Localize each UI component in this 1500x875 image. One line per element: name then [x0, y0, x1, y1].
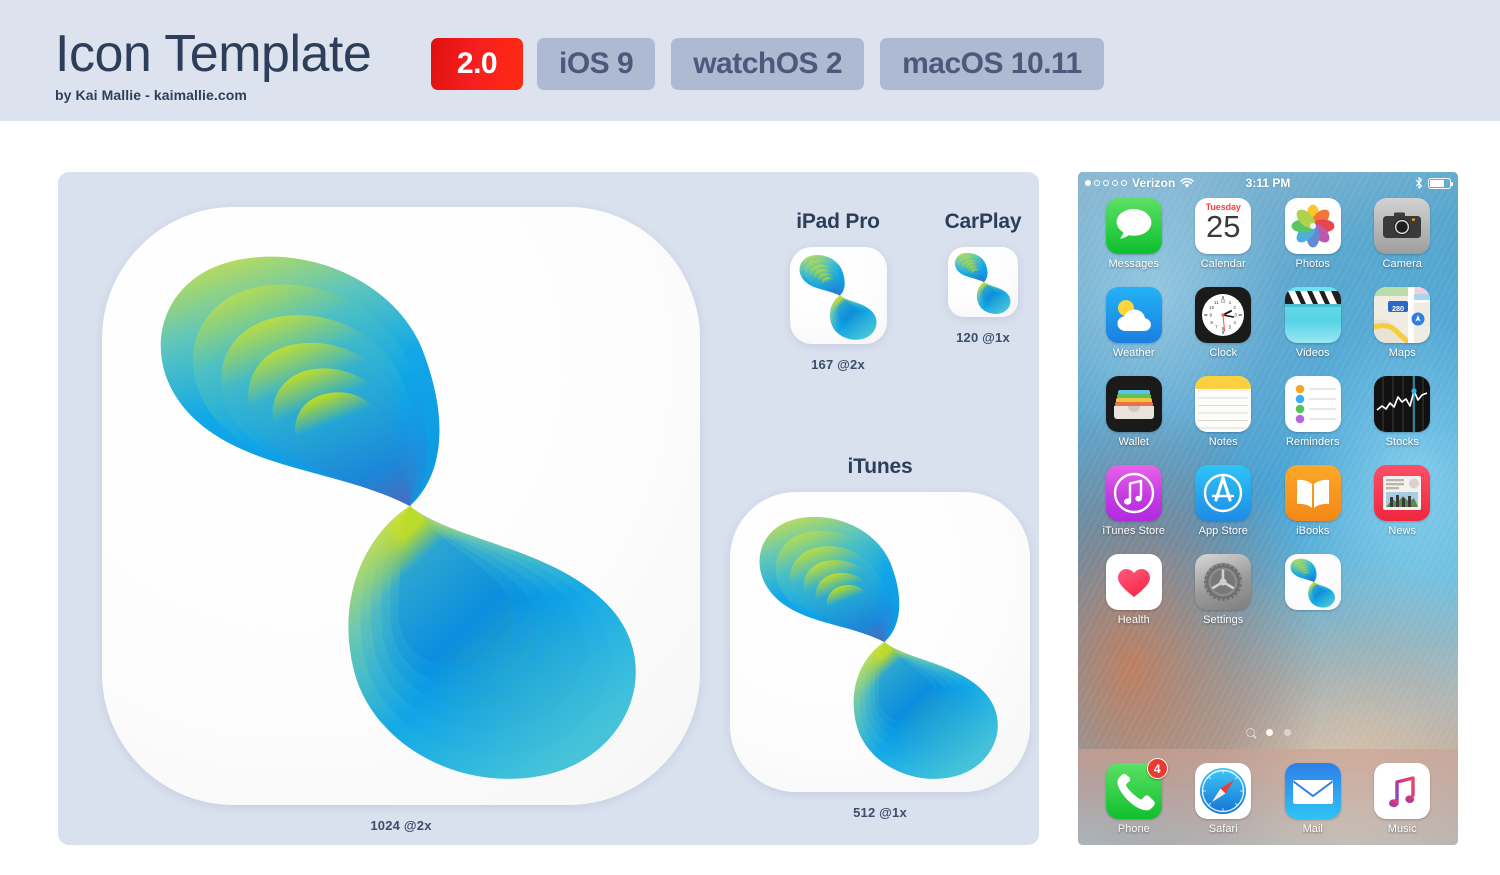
svg-text:3: 3 [1234, 313, 1237, 318]
app-notes[interactable]: Notes [1179, 376, 1269, 448]
stage: 1024 @2x iPad Pro 167 @2x CarPlay 120 @1… [0, 121, 1500, 875]
app-store-icon[interactable] [1195, 465, 1251, 521]
icon-ipad-group: iPad Pro 167 @2x [758, 210, 918, 372]
dock-phone[interactable]: 4 Phone [1106, 763, 1162, 835]
app-label: Weather [1113, 347, 1155, 359]
safari-icon[interactable] [1195, 763, 1251, 819]
svg-text:5: 5 [1229, 325, 1232, 330]
app-label: Photos [1295, 258, 1330, 270]
bluetooth-icon [1415, 177, 1423, 189]
icon-tile-1024[interactable] [102, 207, 700, 805]
icon-title-itunes: iTunes [720, 455, 1040, 479]
os-badge-watchos[interactable]: watchOS 2 [671, 38, 864, 90]
app-template[interactable] [1268, 554, 1358, 626]
dock-label: Mail [1303, 823, 1323, 835]
music-icon[interactable] [1374, 763, 1430, 819]
app-label: Notes [1209, 436, 1238, 448]
page-title: Icon Template [55, 24, 371, 84]
page-dot-2[interactable] [1284, 729, 1291, 736]
app-settings[interactable]: Settings [1179, 554, 1269, 626]
app-label: Settings [1203, 614, 1243, 626]
app-news[interactable]: News [1358, 465, 1448, 537]
app-label: iTunes Store [1102, 525, 1165, 537]
app-camera[interactable]: Camera [1358, 198, 1448, 270]
app-calendar[interactable]: Tuesday 25 Calendar [1179, 198, 1269, 270]
app-messages[interactable]: Messages [1089, 198, 1179, 270]
app-label: Videos [1296, 347, 1330, 359]
logo-artwork-60 [1285, 554, 1341, 610]
dock-label: Safari [1209, 823, 1238, 835]
icon-preview-panel: 1024 @2x iPad Pro 167 @2x CarPlay 120 @1… [58, 172, 1039, 845]
svg-text:9: 9 [1210, 313, 1213, 318]
icon-title-ipad: iPad Pro [758, 210, 918, 234]
app-app-store[interactable]: App Store [1179, 465, 1269, 537]
title-block: Icon Template by Kai Mallie - kaimallie.… [55, 24, 371, 103]
app-videos[interactable]: Videos [1268, 287, 1358, 359]
dock-label: Music [1388, 823, 1417, 835]
calendar-icon[interactable]: Tuesday 25 [1195, 198, 1251, 254]
dock-mail[interactable]: Mail [1285, 763, 1341, 835]
news-icon[interactable] [1374, 465, 1430, 521]
notes-icon[interactable] [1195, 376, 1251, 432]
reminders-icon[interactable] [1285, 376, 1341, 432]
os-badge-macos[interactable]: macOS 10.11 [880, 38, 1104, 90]
wallet-icon[interactable] [1106, 376, 1162, 432]
status-right-group [1415, 177, 1451, 189]
phone-badge: 4 [1147, 758, 1168, 779]
svg-text:1: 1 [1229, 300, 1232, 305]
itunes-store-icon[interactable] [1106, 465, 1162, 521]
calendar-day: 25 [1195, 210, 1251, 243]
battery-icon [1428, 178, 1451, 189]
camera-icon[interactable] [1374, 198, 1430, 254]
app-label: Messages [1108, 258, 1159, 270]
app-label: Maps [1389, 347, 1416, 359]
messages-icon[interactable] [1106, 198, 1162, 254]
dock: 4 Phone [1078, 749, 1458, 845]
icon-carplay-group: CarPlay 120 @1x [903, 210, 1063, 345]
app-photos[interactable]: Photos [1268, 198, 1358, 270]
icon-caption-167: 167 @2x [758, 357, 918, 372]
app-itunes-store[interactable]: iTunes Store [1089, 465, 1179, 537]
videos-icon[interactable] [1285, 287, 1341, 343]
icon-caption-120: 120 @1x [903, 330, 1063, 345]
app-label: Clock [1209, 347, 1237, 359]
dock-safari[interactable]: Safari [1195, 763, 1251, 835]
os-badge-list: iOS 9 watchOS 2 macOS 10.11 [537, 38, 1104, 90]
logo-artwork-1024 [102, 207, 700, 805]
app-wallet[interactable]: Wallet [1089, 376, 1179, 448]
svg-text:2: 2 [1234, 305, 1237, 310]
app-reminders[interactable]: Reminders [1268, 376, 1358, 448]
app-grid: Messages Tuesday 25 Calendar [1078, 198, 1458, 626]
app-label: Stocks [1386, 436, 1419, 448]
app-clock[interactable]: 123 69 12 45 78 1011 Clock [1179, 287, 1269, 359]
page-indicator[interactable] [1078, 728, 1458, 737]
app-weather[interactable]: Weather [1089, 287, 1179, 359]
svg-text:11: 11 [1214, 300, 1219, 305]
app-label: iBooks [1296, 525, 1329, 537]
photos-icon[interactable] [1285, 198, 1341, 254]
page-dot-1[interactable] [1266, 729, 1273, 736]
svg-text:8: 8 [1211, 320, 1214, 325]
logo-artwork-512 [730, 492, 1030, 792]
app-label: Calendar [1201, 258, 1246, 270]
icon-1024-group: 1024 @2x [102, 207, 700, 833]
logo-artwork-167 [790, 247, 887, 344]
status-bar: Verizon 3:11 PM [1078, 172, 1458, 194]
search-icon[interactable] [1246, 728, 1255, 737]
settings-icon[interactable] [1195, 554, 1251, 610]
icon-tile-167[interactable] [790, 247, 887, 344]
icon-itunes-group: iTunes 512 @1x [720, 455, 1040, 820]
icon-tile-120[interactable] [948, 247, 1018, 317]
maps-icon[interactable]: 280 [1374, 287, 1430, 343]
svg-text:7: 7 [1215, 325, 1218, 330]
icon-caption-1024: 1024 @2x [102, 818, 700, 833]
stocks-icon[interactable] [1374, 376, 1430, 432]
weather-icon[interactable] [1106, 287, 1162, 343]
app-maps[interactable]: 280 Maps [1358, 287, 1448, 359]
app-ibooks[interactable]: iBooks [1268, 465, 1358, 537]
dock-label: Phone [1118, 823, 1150, 835]
app-label: Health [1118, 614, 1150, 626]
template-app-icon[interactable] [1285, 554, 1341, 610]
app-label: App Store [1199, 525, 1248, 537]
icon-title-carplay: CarPlay [903, 210, 1063, 234]
page-header: Icon Template by Kai Mallie - kaimallie.… [0, 0, 1500, 121]
app-label: Wallet [1119, 436, 1149, 448]
icon-caption-512: 512 @1x [720, 805, 1040, 820]
os-badge-ios[interactable]: iOS 9 [537, 38, 655, 90]
health-icon[interactable] [1106, 554, 1162, 610]
icon-tile-512[interactable] [730, 492, 1030, 792]
dock-music[interactable]: Music [1374, 763, 1430, 835]
app-label: Reminders [1286, 436, 1340, 448]
byline: by Kai Mallie - kaimallie.com [55, 87, 371, 103]
ibooks-icon[interactable] [1285, 465, 1341, 521]
version-badge: 2.0 [431, 38, 523, 90]
app-health[interactable]: Health [1089, 554, 1179, 626]
iphone-home-screen-preview: Verizon 3:11 PM [1078, 172, 1458, 845]
svg-text:10: 10 [1209, 305, 1215, 310]
svg-text:12: 12 [1221, 299, 1227, 304]
maps-road-number: 280 [1392, 304, 1404, 313]
logo-artwork-120 [948, 247, 1018, 317]
clock-icon[interactable]: 123 69 12 45 78 1011 [1195, 287, 1251, 343]
app-label: News [1388, 525, 1416, 537]
clock-label: 3:11 PM [1078, 176, 1458, 190]
mail-icon[interactable] [1285, 763, 1341, 819]
svg-text:4: 4 [1234, 320, 1237, 325]
app-label: Camera [1383, 258, 1422, 270]
app-stocks[interactable]: Stocks [1358, 376, 1448, 448]
